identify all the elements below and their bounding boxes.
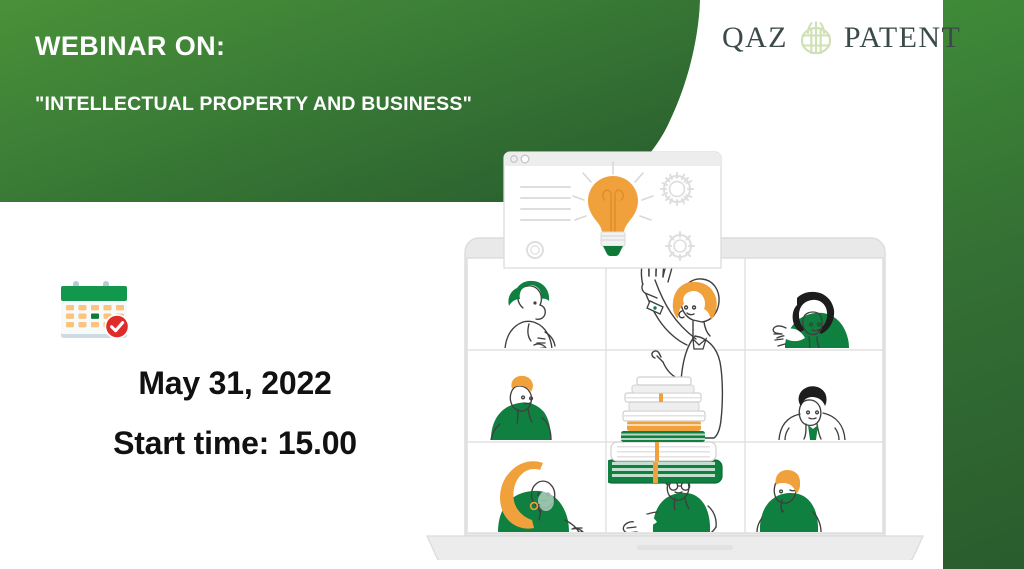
titlebar-dot-2 [521,155,529,163]
logo-word-patent: PATENT [844,21,961,55]
webinar-title-line2: "INTELLECTUAL PROPERTY AND BUSINESS" [35,94,655,115]
webinar-title-line1: WEBINAR ON: [35,32,655,62]
webinar-banner: WEBINAR ON: "INTELLECTUAL PROPERTY AND B… [0,0,1024,569]
event-date: May 31, 2022 [55,365,415,402]
event-info-block: May 31, 2022 Start time: 15.00 [55,281,415,462]
yurt-shanyrak-emblem-icon [795,17,837,59]
logo-word-qaz: QAZ [722,21,788,55]
heading-block: WEBINAR ON: "INTELLECTUAL PROPERTY AND B… [35,32,655,115]
webinar-video-call-illustration [405,140,945,560]
right-green-accent-bar [943,0,1024,569]
calendar-check-icon [55,281,137,343]
idea-browser-window [504,152,721,268]
event-start-time: Start time: 15.00 [55,425,415,462]
qazpatent-logo: QAZ PATENT [722,17,961,59]
